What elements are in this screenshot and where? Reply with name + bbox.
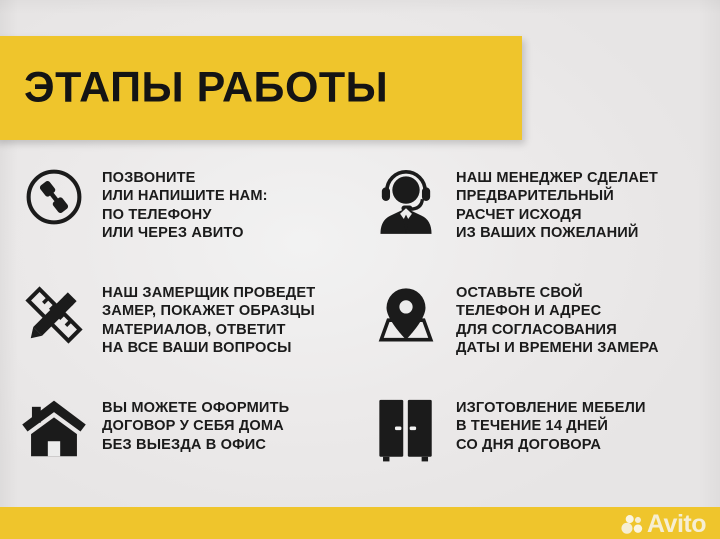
step-text-1: ПОЗВОНИТЕ ИЛИ НАПИШИТЕ НАМ: ПО ТЕЛЕФОНУ … xyxy=(90,160,268,242)
steps-grid: ПОЗВОНИТЕ ИЛИ НАПИШИТЕ НАМ: ПО ТЕЛЕФОНУ … xyxy=(0,160,720,500)
step-item-6: ИЗГОТОВЛЕНИЕ МЕБЕЛИ В ТЕЧЕНИЕ 14 ДНЕЙ СО… xyxy=(362,390,720,500)
bottom-accent-strip xyxy=(0,507,720,539)
step-item-5: ВЫ МОЖЕТЕ ОФОРМИТЬ ДОГОВОР У СЕБЯ ДОМА Б… xyxy=(0,390,362,500)
page-title: ЭТАПЫ РАБОТЫ xyxy=(24,67,388,110)
support-operator-headset-icon xyxy=(370,160,442,238)
avito-watermark: Avito xyxy=(621,512,706,537)
ruler-and-pencil-icon xyxy=(18,275,90,353)
avito-watermark-label: Avito xyxy=(647,512,706,537)
house-icon xyxy=(18,390,90,468)
title-banner: ЭТАПЫ РАБОТЫ xyxy=(0,36,522,140)
step-item-3: НАШ ЗАМЕРЩИК ПРОВЕДЕТ ЗАМЕР, ПОКАЖЕТ ОБР… xyxy=(0,275,362,390)
step-text-6: ИЗГОТОВЛЕНИЕ МЕБЕЛИ В ТЕЧЕНИЕ 14 ДНЕЙ СО… xyxy=(442,390,646,454)
step-text-4: ОСТАВЬТЕ СВОЙ ТЕЛЕФОН И АДРЕС ДЛЯ СОГЛАС… xyxy=(442,275,659,357)
infographic-poster: ЭТАПЫ РАБОТЫ ПОЗВОНИТЕ ИЛИ НАПИШИТЕ НАМ:… xyxy=(0,0,720,539)
step-item-2: НАШ МЕНЕДЖЕР СДЕЛАЕТ ПРЕДВАРИТЕЛЬНЫЙ РАС… xyxy=(362,160,720,275)
step-text-5: ВЫ МОЖЕТЕ ОФОРМИТЬ ДОГОВОР У СЕБЯ ДОМА Б… xyxy=(90,390,289,454)
avito-dots-icon xyxy=(621,514,643,536)
step-item-1: ПОЗВОНИТЕ ИЛИ НАПИШИТЕ НАМ: ПО ТЕЛЕФОНУ … xyxy=(0,160,362,275)
step-text-3: НАШ ЗАМЕРЩИК ПРОВЕДЕТ ЗАМЕР, ПОКАЖЕТ ОБР… xyxy=(90,275,315,357)
wardrobe-cabinet-icon xyxy=(370,390,442,468)
step-item-4: ОСТАВЬТЕ СВОЙ ТЕЛЕФОН И АДРЕС ДЛЯ СОГЛАС… xyxy=(362,275,720,390)
phone-in-circle-icon xyxy=(18,160,90,238)
map-pin-icon xyxy=(370,275,442,353)
step-text-2: НАШ МЕНЕДЖЕР СДЕЛАЕТ ПРЕДВАРИТЕЛЬНЫЙ РАС… xyxy=(442,160,658,242)
